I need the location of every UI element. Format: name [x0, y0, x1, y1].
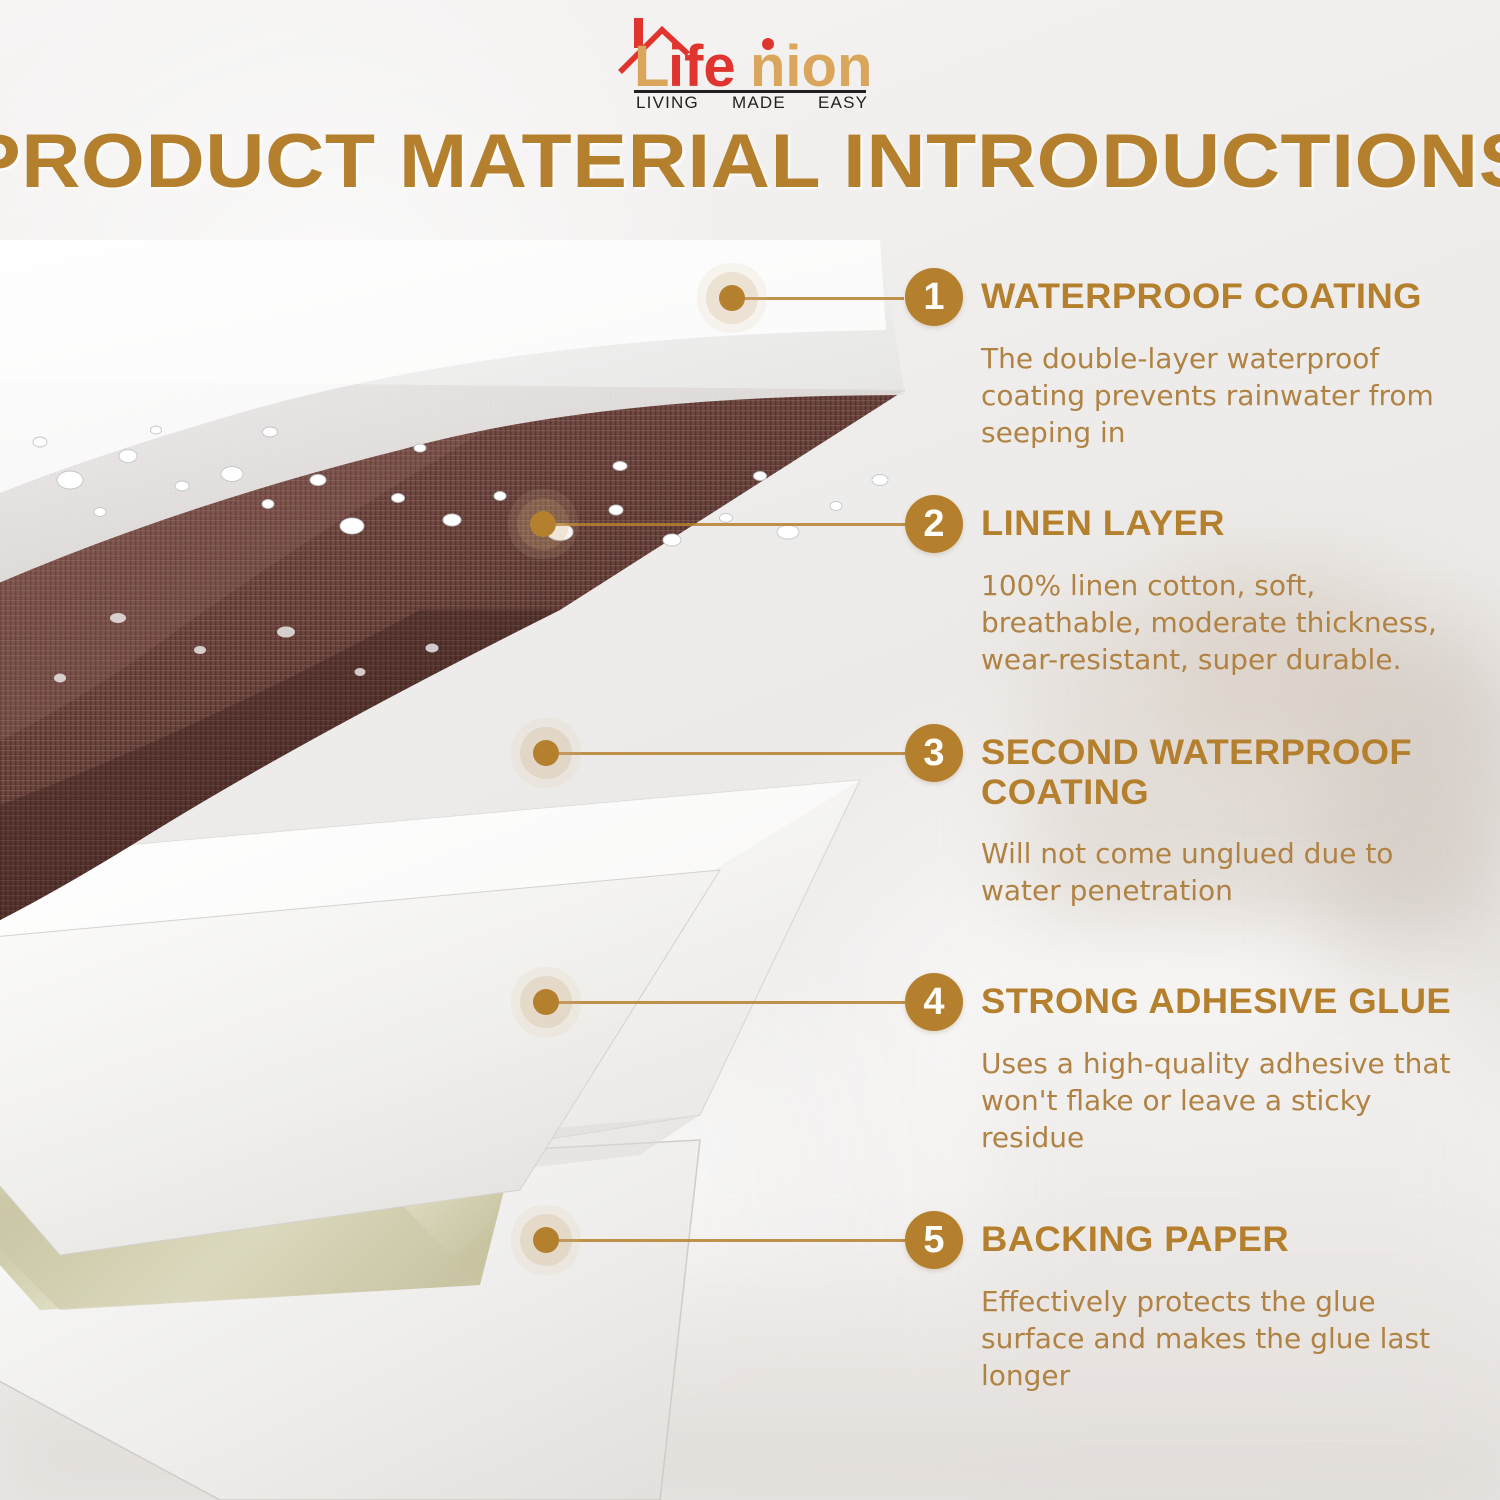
feature-heading-row: 5 BACKING PAPER — [905, 1211, 1465, 1269]
feature-heading-row: 3 SECOND WATERPROOF COATING — [905, 724, 1405, 813]
connector-dot-2 — [530, 511, 556, 537]
feature-body-4: Uses a high-quality adhesive that won't … — [981, 1045, 1465, 1157]
feature-badge-5: 5 — [905, 1211, 963, 1269]
feature-badge-2: 2 — [905, 495, 963, 553]
feature-title-2: LINEN LAYER — [981, 495, 1225, 544]
logo-i-dot — [762, 38, 774, 50]
feature-title-3: SECOND WATERPROOF COATING — [981, 724, 1422, 813]
feature-body-1: The double-layer waterproof coating prev… — [981, 340, 1465, 452]
connector-line-3 — [546, 752, 905, 755]
material-layers-illustration — [0, 180, 960, 1500]
connector-dot-1 — [719, 285, 745, 311]
feature-title-5: BACKING PAPER — [981, 1211, 1289, 1260]
logo-tagline-living: LIVING — [636, 93, 699, 108]
feature-heading-row: 1 WATERPROOF COATING — [905, 268, 1465, 326]
logo-svg: L ife nion LIVING MADE EASY — [600, 8, 900, 108]
logo-tagline-easy: EASY — [818, 93, 868, 108]
feature-linen-layer: 2 LINEN LAYER 100% linen cotton, soft, b… — [905, 495, 1465, 679]
feature-badge-3: 3 — [905, 724, 963, 782]
connector-dot-4 — [533, 989, 559, 1015]
connector-line-1 — [732, 297, 904, 300]
brand-logo: L ife nion LIVING MADE EASY — [600, 8, 900, 108]
connector-dot-5 — [533, 1227, 559, 1253]
logo-tagline-made: MADE — [732, 93, 786, 108]
feature-waterproof-coating: 1 WATERPROOF COATING The double-layer wa… — [905, 268, 1465, 452]
connector-dot-3 — [533, 740, 559, 766]
feature-second-waterproof-coating: 3 SECOND WATERPROOF COATING Will not com… — [905, 724, 1405, 909]
feature-badge-1: 1 — [905, 268, 963, 326]
feature-body-3: Will not come unglued due to water penet… — [981, 835, 1405, 909]
feature-title-4: STRONG ADHESIVE GLUE — [981, 973, 1451, 1022]
connector-line-2 — [543, 523, 905, 526]
feature-backing-paper: 5 BACKING PAPER Effectively protects the… — [905, 1211, 1465, 1395]
feature-heading-row: 4 STRONG ADHESIVE GLUE — [905, 973, 1465, 1031]
logo-letter-L: L — [634, 34, 669, 99]
feature-strong-adhesive-glue: 4 STRONG ADHESIVE GLUE Uses a high-quali… — [905, 973, 1465, 1157]
feature-heading-row: 2 LINEN LAYER — [905, 495, 1465, 553]
feature-title-1: WATERPROOF COATING — [981, 268, 1422, 317]
connector-line-4 — [546, 1001, 905, 1004]
layers-svg — [0, 180, 960, 1500]
feature-badge-4: 4 — [905, 973, 963, 1031]
logo-letters-ife: ife — [668, 34, 736, 99]
feature-body-5: Effectively protects the glue surface an… — [981, 1283, 1465, 1395]
connector-line-5 — [546, 1239, 905, 1242]
feature-body-2: 100% linen cotton, soft, breathable, mod… — [981, 567, 1465, 679]
product-material-infographic: L ife nion LIVING MADE EASY PRODUCT MATE… — [0, 0, 1500, 1500]
